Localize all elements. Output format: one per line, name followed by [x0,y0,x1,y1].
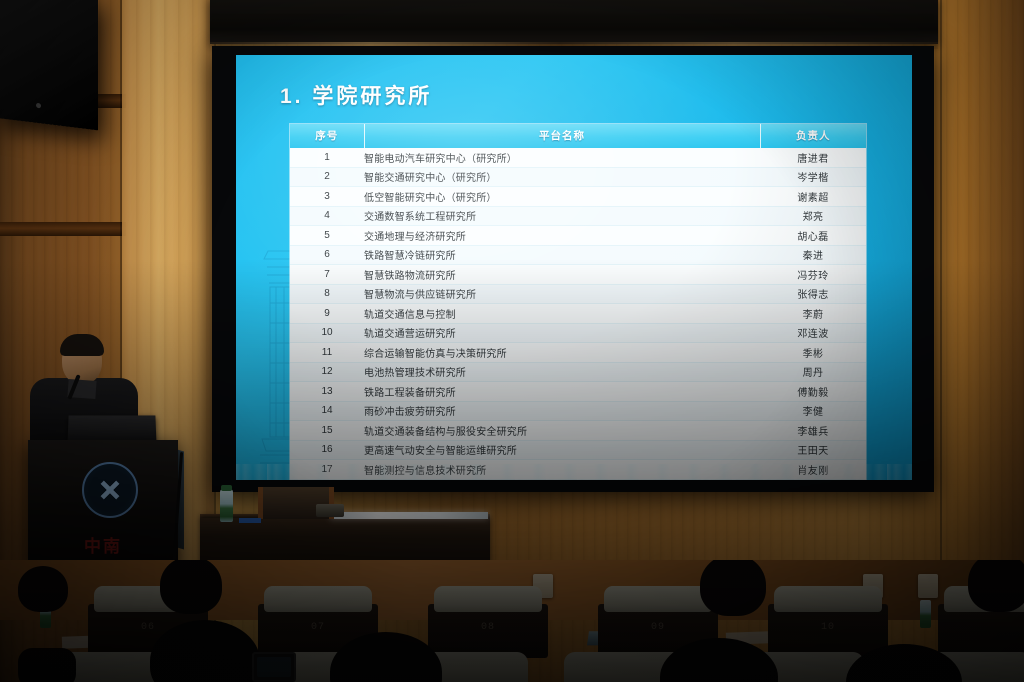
presenter-hair [60,334,104,356]
column-header-head: 负责人 [760,124,866,148]
cell-platform-name: 交通地理与经济研究所 [364,226,760,246]
table-row: 13铁路工程装备研究所傅勤毅 [290,382,866,402]
attendee-head [160,560,222,614]
cell-platform-name: 铁路工程装备研究所 [364,382,760,402]
raised-hand-silhouette [18,648,76,682]
chair-headrest [264,586,372,612]
cell-no: 16 [290,440,364,460]
attendee-phone [252,652,296,682]
cell-head-person: 张得志 [760,284,866,304]
presentation-room-photo: 1. 学院研究所 序号 平台名称 负责人 1智能电动汽车研究中心（研究所）唐进君… [0,0,1024,682]
desktop-device [316,504,344,517]
table-light-strip [330,512,488,519]
cell-no: 11 [290,343,364,363]
cell-platform-name: 铁路智慧冷链研究所 [364,245,760,265]
cell-no: 13 [290,382,364,402]
table-row: 8智慧物流与供应链研究所张得志 [290,284,866,304]
water-bottle [220,489,233,522]
cell-no: 3 [290,187,364,207]
cell-platform-name: 交通数智系统工程研究所 [364,206,760,226]
cell-no: 14 [290,401,364,421]
water-bottle-cap [221,485,232,491]
cell-platform-name: 智能电动汽车研究中心（研究所） [364,148,760,167]
emblem-glyph [94,474,125,505]
cell-no: 12 [290,362,364,382]
column-header-no: 序号 [290,124,364,148]
table-row: 16更高速气动安全与智能运维研究所王田天 [290,440,866,460]
cell-no: 15 [290,421,364,441]
speaker-led-icon [36,103,41,109]
cell-platform-name: 综合运输智能仿真与决策研究所 [364,343,760,363]
audience-water-bottle-right [920,600,931,628]
cell-head-person: 秦进 [760,245,866,265]
cell-platform-name: 电池热管理技术研究所 [364,362,760,382]
cell-head-person: 季彬 [760,343,866,363]
wall-trim-lower [0,222,126,236]
cell-no: 1 [290,148,364,167]
cell-platform-name: 轨道交通营运研究所 [364,323,760,343]
cell-no: 2 [290,167,364,187]
seat-number: 07 [258,622,378,633]
blue-card-on-table [239,518,261,523]
chair-headrest [774,586,882,612]
cell-head-person: 胡心磊 [760,226,866,246]
university-emblem-icon [82,462,138,518]
cell-no: 9 [290,304,364,324]
chair-headrest [604,586,712,612]
cell-platform-name: 低空智能研究中心（研究所） [364,187,760,207]
table-row: 12电池热管理技术研究所周丹 [290,362,866,382]
table-row: 10轨道交通营运研究所邓连波 [290,323,866,343]
table-row: 6铁路智慧冷链研究所秦进 [290,245,866,265]
table-row: 14雨砂冲击疲劳研究所李健 [290,401,866,421]
chair-08: 08 [428,586,548,658]
cell-head-person: 傅勤毅 [760,382,866,402]
table-row: 2智能交通研究中心（研究所）岑学楷 [290,167,866,187]
screen-valance [210,0,938,44]
table-row: 15轨道交通装备结构与服役安全研究所李雄兵 [290,421,866,441]
projector-edge-artifacts [236,464,912,480]
cell-platform-name: 智慧物流与供应链研究所 [364,284,760,304]
attendee-head [968,560,1024,612]
wall-outlet-far-right [918,574,938,598]
table-row: 11综合运输智能仿真与决策研究所季彬 [290,343,866,363]
cell-platform-name: 轨道交通信息与控制 [364,304,760,324]
table-header-row: 序号 平台名称 负责人 [290,124,866,148]
cell-head-person: 唐进君 [760,148,866,167]
institutes-table: 序号 平台名称 负责人 1智能电动汽车研究中心（研究所）唐进君2智能交通研究中心… [290,124,866,480]
table-row: 9轨道交通信息与控制李蔚 [290,304,866,324]
attendee-head [700,560,766,616]
cell-head-person: 岑学楷 [760,167,866,187]
table-row: 4交通数智系统工程研究所郑亮 [290,206,866,226]
table-row: 3低空智能研究中心（研究所）谢素超 [290,187,866,207]
slide-title: 1. 学院研究所 [280,80,432,110]
cell-no: 6 [290,245,364,265]
cell-platform-name: 智能交通研究中心（研究所） [364,167,760,187]
cell-platform-name: 轨道交通装备结构与服役安全研究所 [364,421,760,441]
cell-platform-name: 智慧铁路物流研究所 [364,265,760,285]
cell-head-person: 谢素超 [760,187,866,207]
audience-area: 06 07 08 09 10 [0,560,1024,682]
chair-headrest [434,586,542,612]
cell-head-person: 王田天 [760,440,866,460]
cell-head-person: 李蔚 [760,304,866,324]
seat-number: 08 [428,622,548,633]
cell-head-person: 冯芬玲 [760,265,866,285]
cell-head-person: 郑亮 [760,206,866,226]
cell-platform-name: 雨砂冲击疲劳研究所 [364,401,760,421]
phone-screen [257,657,291,677]
cell-no: 8 [290,284,364,304]
table-row: 1智能电动汽车研究中心（研究所）唐进君 [290,148,866,167]
cell-platform-name: 更高速气动安全与智能运维研究所 [364,440,760,460]
cell-head-person: 李健 [760,401,866,421]
cell-no: 7 [290,265,364,285]
seat-number: 09 [598,622,718,633]
cell-head-person: 李雄兵 [760,421,866,441]
podium: 中南 [28,440,178,570]
table-body: 1智能电动汽车研究中心（研究所）唐进君2智能交通研究中心（研究所）岑学楷3低空智… [290,148,866,480]
chair-back [938,604,1024,658]
cell-no: 10 [290,323,364,343]
attendee-head [18,566,68,612]
cell-head-person: 周丹 [760,362,866,382]
seat-number: 10 [768,622,888,633]
podium-university-text: 中南 [28,532,178,557]
cell-head-person: 邓连波 [760,323,866,343]
table-row: 7智慧铁路物流研究所冯芬玲 [290,265,866,285]
cell-no: 5 [290,226,364,246]
chair-10: 10 [768,586,888,658]
table-row: 5交通地理与经济研究所胡心磊 [290,226,866,246]
projection-screen: 1. 学院研究所 序号 平台名称 负责人 1智能电动汽车研究中心（研究所）唐进君… [236,55,912,480]
column-header-name: 平台名称 [364,124,760,148]
wall-speaker [0,0,98,130]
cell-no: 4 [290,206,364,226]
